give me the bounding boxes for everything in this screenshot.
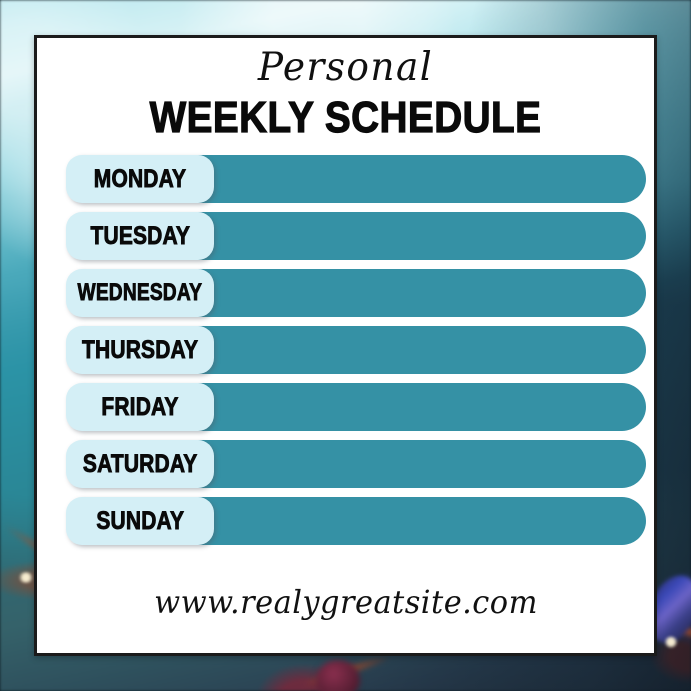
page-title: WEEKLY SCHEDULE [74, 96, 617, 140]
background-highlight-icon [664, 636, 678, 648]
poster-canvas: Personal WEEKLY SCHEDULE MONDAY TUESDAY … [0, 0, 691, 691]
table-row: THURSDAY [37, 326, 654, 374]
entry-field-sunday[interactable] [177, 497, 646, 545]
background-highlight-icon [18, 572, 34, 583]
day-label-saturday[interactable]: SATURDAY [66, 440, 214, 488]
table-row: FRIDAY [37, 383, 654, 431]
day-label-sunday[interactable]: SUNDAY [66, 497, 214, 545]
table-row: WEDNESDAY [37, 269, 654, 317]
day-label-thursday[interactable]: THURSDAY [66, 326, 214, 374]
day-label-text: SATURDAY [83, 450, 198, 479]
day-label-text: MONDAY [94, 165, 186, 194]
entry-field-thursday[interactable] [177, 326, 646, 374]
entry-field-tuesday[interactable] [177, 212, 646, 260]
table-row: SATURDAY [37, 440, 654, 488]
day-label-wednesday[interactable]: WEDNESDAY [66, 269, 214, 317]
entry-field-wednesday[interactable] [177, 269, 646, 317]
table-row: TUESDAY [37, 212, 654, 260]
day-label-text: THURSDAY [82, 336, 198, 365]
day-label-tuesday[interactable]: TUESDAY [66, 212, 214, 260]
schedule-rows: MONDAY TUESDAY WEDNESDAY THURSDAY [37, 155, 654, 554]
table-row: MONDAY [37, 155, 654, 203]
card-footer: www.realygreatsite.com [37, 583, 654, 621]
entry-field-saturday[interactable] [177, 440, 646, 488]
table-row: SUNDAY [37, 497, 654, 545]
day-label-friday[interactable]: FRIDAY [66, 383, 214, 431]
entry-field-friday[interactable] [177, 383, 646, 431]
day-label-monday[interactable]: MONDAY [66, 155, 214, 203]
day-label-text: FRIDAY [101, 393, 178, 422]
website-url[interactable]: www.realygreatsite.com [154, 583, 538, 621]
day-label-text: SUNDAY [96, 507, 184, 536]
card-header: Personal WEEKLY SCHEDULE [37, 38, 654, 140]
entry-field-monday[interactable] [177, 155, 646, 203]
day-label-text: TUESDAY [90, 222, 190, 251]
script-title: Personal [49, 48, 641, 87]
schedule-card: Personal WEEKLY SCHEDULE MONDAY TUESDAY … [34, 35, 657, 656]
day-label-text: WEDNESDAY [78, 279, 202, 307]
